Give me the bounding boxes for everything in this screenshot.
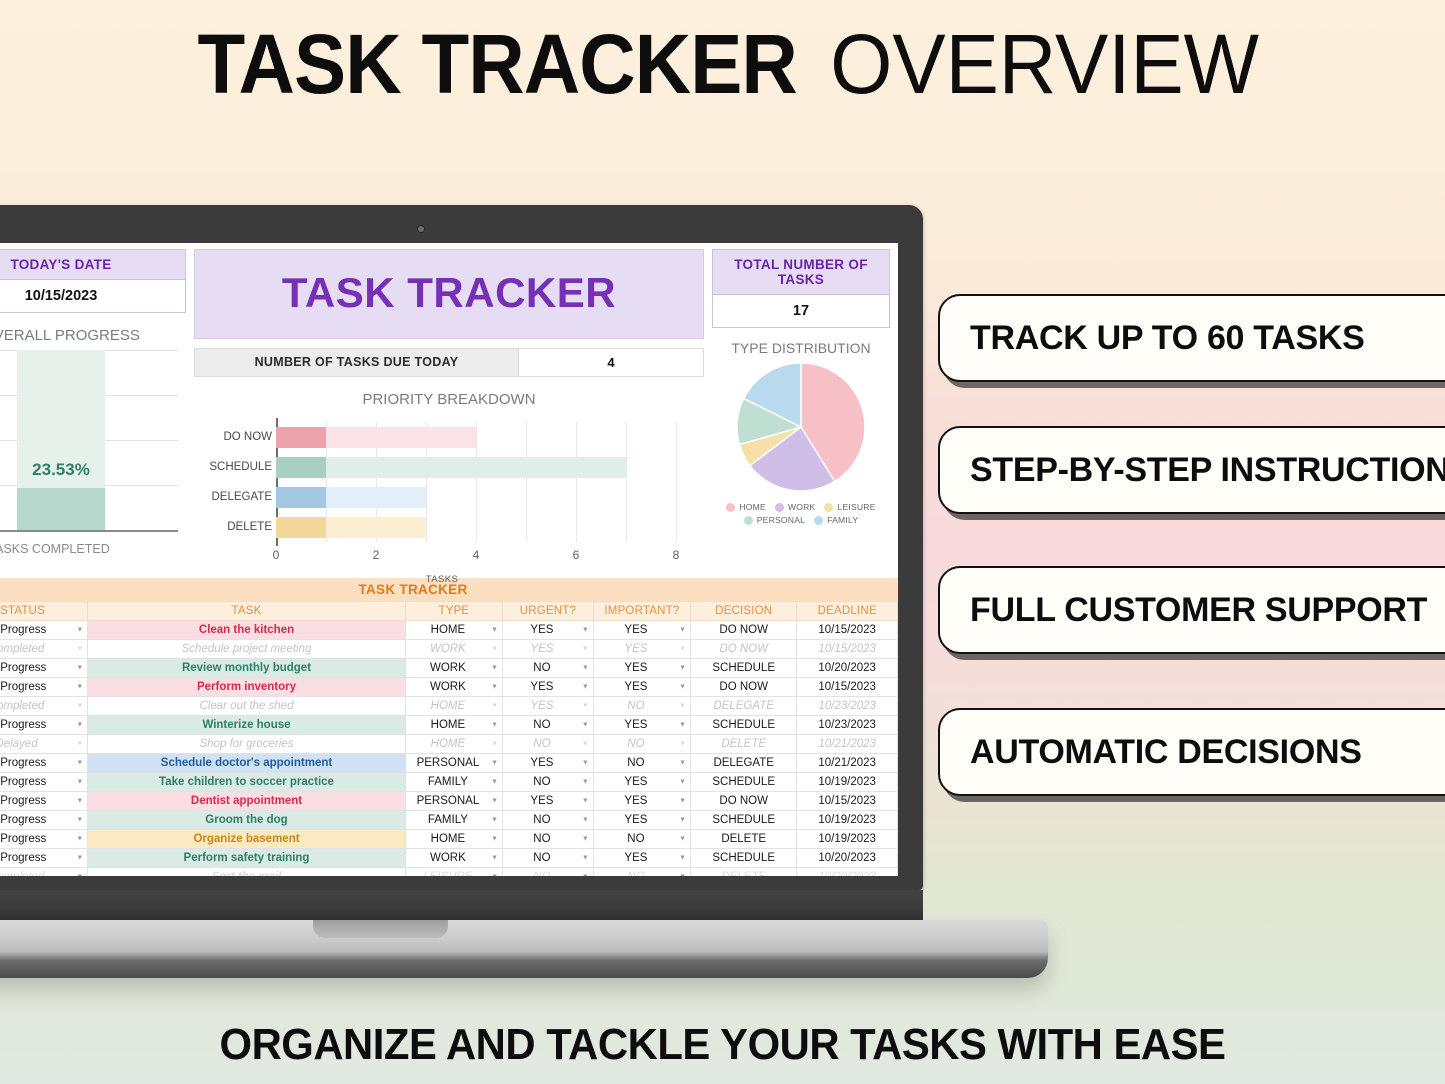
task-table-head: #STATUSTASKTYPEURGENT?IMPORTANT?DECISION…	[0, 602, 898, 621]
urgent-dropdown[interactable]: NO▼	[503, 716, 594, 735]
task-table-wrap: TASK TRACKER #STATUSTASKTYPEURGENT?IMPOR…	[0, 578, 898, 876]
type-dropdown[interactable]: LEISURE▼	[405, 868, 502, 877]
task-name-cell: Sort the mail	[88, 868, 405, 877]
task-name-cell: Groom the dog	[88, 811, 405, 830]
feature-pill-3: FULL CUSTOMER SUPPORT	[938, 566, 1445, 654]
bar-plot-area: DO NOWSCHEDULEDELEGATEDELETE02468	[276, 422, 676, 542]
dashboard-top: TODAY'S DATE 10/15/2023 OVERALL PROGRESS…	[0, 243, 898, 568]
type-dropdown[interactable]: FAMILY▼	[405, 773, 502, 792]
bar-gridline	[526, 422, 527, 542]
chevron-down-icon[interactable]: ▼	[491, 760, 498, 767]
status-dropdown[interactable]: In-Progress▼	[0, 716, 88, 735]
pie-legend-item: WORK	[775, 502, 816, 512]
bar-category-label: DELETE	[196, 521, 272, 533]
urgent-dropdown[interactable]: NO▼	[503, 868, 594, 877]
chevron-down-icon[interactable]: ▼	[76, 798, 83, 805]
task-name-cell: Dentist appointment	[88, 792, 405, 811]
chevron-down-icon[interactable]: ▼	[582, 836, 589, 843]
deadline-cell: 10/20/2023	[797, 868, 898, 877]
chevron-down-icon[interactable]: ▼	[491, 836, 498, 843]
status-dropdown[interactable]: In-Progress▼	[0, 792, 88, 811]
overall-progress-chart: 100%75%50%25%0% 23.53%	[0, 350, 180, 530]
urgent-dropdown[interactable]: NO▼	[503, 811, 594, 830]
table-row[interactable]: 3In-Progress▼Review monthly budgetWORK▼N…	[0, 659, 898, 678]
task-table-col-decision[interactable]: DECISION	[691, 602, 797, 621]
task-table-col-task[interactable]: TASK	[88, 602, 405, 621]
legend-swatch-icon	[775, 503, 784, 512]
bar-segment-light	[326, 517, 426, 538]
chevron-down-icon[interactable]: ▼	[582, 741, 589, 748]
chevron-down-icon[interactable]: ▼	[76, 722, 83, 729]
chevron-down-icon[interactable]: ▼	[76, 760, 83, 767]
deadline-cell: 10/20/2023	[797, 849, 898, 868]
chevron-down-icon[interactable]: ▼	[582, 760, 589, 767]
left-panel: TODAY'S DATE 10/15/2023 OVERALL PROGRESS…	[0, 249, 186, 556]
status-dropdown[interactable]: In-Progress▼	[0, 849, 88, 868]
progress-gridline	[0, 530, 178, 532]
important-dropdown[interactable]: NO▼	[593, 830, 690, 849]
table-row[interactable]: 12In-Progress▼Organize basementHOME▼NO▼N…	[0, 830, 898, 849]
pie-legend-label: LEISURE	[837, 502, 875, 512]
total-tasks-value: 17	[712, 295, 890, 328]
task-table-col-status[interactable]: STATUS	[0, 602, 88, 621]
important-dropdown[interactable]: NO▼	[593, 697, 690, 716]
pie-legend-label: WORK	[788, 502, 816, 512]
urgent-dropdown[interactable]: YES▼	[503, 678, 594, 697]
chevron-down-icon[interactable]: ▼	[679, 722, 686, 729]
chevron-down-icon[interactable]: ▼	[76, 855, 83, 862]
decision-cell: DELETE	[691, 830, 797, 849]
task-table: #STATUSTASKTYPEURGENT?IMPORTANT?DECISION…	[0, 601, 898, 876]
urgent-dropdown[interactable]: NO▼	[503, 659, 594, 678]
deadline-cell: 10/19/2023	[797, 830, 898, 849]
table-row[interactable]: 5Completed▼Clear out the shedHOME▼YES▼NO…	[0, 697, 898, 716]
type-dropdown[interactable]: PERSONAL▼	[405, 792, 502, 811]
chevron-down-icon[interactable]: ▼	[582, 779, 589, 786]
important-dropdown[interactable]: YES▼	[593, 716, 690, 735]
page-title: TASK TRACKER OVERVIEW	[0, 22, 1445, 106]
chevron-down-icon[interactable]: ▼	[76, 836, 83, 843]
chevron-down-icon[interactable]: ▼	[76, 646, 83, 653]
chevron-down-icon[interactable]: ▼	[76, 741, 83, 748]
footer-tagline: ORGANIZE AND TACKLE YOUR TASKS WITH EASE	[36, 1020, 1409, 1070]
task-name-cell: Perform safety training	[88, 849, 405, 868]
status-dropdown[interactable]: Completed▼	[0, 697, 88, 716]
chevron-down-icon[interactable]: ▼	[76, 779, 83, 786]
decision-cell: SCHEDULE	[691, 659, 797, 678]
status-dropdown[interactable]: In-Progress▼	[0, 678, 88, 697]
pie-legend-label: PERSONAL	[757, 515, 805, 525]
urgent-dropdown[interactable]: YES▼	[503, 621, 594, 640]
table-row[interactable]: 2Completed▼Schedule project meetingWORK▼…	[0, 640, 898, 659]
decision-cell: DO NOW	[691, 792, 797, 811]
bar-gridline	[626, 422, 627, 542]
chevron-down-icon[interactable]: ▼	[491, 703, 498, 710]
type-dropdown[interactable]: HOME▼	[405, 697, 502, 716]
deadline-cell: 10/23/2023	[797, 716, 898, 735]
chevron-down-icon[interactable]: ▼	[582, 874, 589, 876]
status-dropdown[interactable]: In-Progress▼	[0, 659, 88, 678]
chevron-down-icon[interactable]: ▼	[582, 817, 589, 824]
chevron-down-icon[interactable]: ▼	[679, 874, 686, 876]
chevron-down-icon[interactable]: ▼	[582, 798, 589, 805]
task-table-header-row: #STATUSTASKTYPEURGENT?IMPORTANT?DECISION…	[0, 602, 898, 621]
table-row[interactable]: 7Delayed▼Shop for groceriesHOME▼NO▼NO▼DE…	[0, 735, 898, 754]
chevron-down-icon[interactable]: ▼	[679, 665, 686, 672]
table-row[interactable]: 9In-Progress▼Take children to soccer pra…	[0, 773, 898, 792]
feature-pill-2: STEP-BY-STEP INSTRUCTIONS	[938, 426, 1445, 514]
pie-legend: HOMEWORKLEISUREPERSONALFAMILY	[712, 495, 890, 525]
todays-date-label: TODAY'S DATE	[0, 249, 186, 280]
type-dropdown[interactable]: FAMILY▼	[405, 811, 502, 830]
important-dropdown[interactable]: YES▼	[593, 849, 690, 868]
important-dropdown[interactable]: YES▼	[593, 640, 690, 659]
type-dropdown[interactable]: HOME▼	[405, 735, 502, 754]
total-tasks-label: TOTAL NUMBER OF TASKS	[712, 249, 890, 295]
chevron-down-icon[interactable]: ▼	[76, 817, 83, 824]
deadline-cell: 10/21/2023	[797, 735, 898, 754]
deadline-cell: 10/15/2023	[797, 792, 898, 811]
decision-cell: DELETE	[691, 868, 797, 877]
chevron-down-icon[interactable]: ▼	[582, 627, 589, 634]
chevron-down-icon[interactable]: ▼	[679, 817, 686, 824]
important-dropdown[interactable]: YES▼	[593, 621, 690, 640]
urgent-dropdown[interactable]: YES▼	[503, 697, 594, 716]
bar-xaxis-title: TASKS	[426, 574, 458, 585]
deadline-cell: 10/15/2023	[797, 621, 898, 640]
status-dropdown[interactable]: Completed▼	[0, 868, 88, 877]
task-name-cell: Shop for groceries	[88, 735, 405, 754]
decision-cell: SCHEDULE	[691, 811, 797, 830]
table-row[interactable]: 4In-Progress▼Perform inventoryWORK▼YES▼Y…	[0, 678, 898, 697]
feature-pill-1: TRACK UP TO 60 TASKS	[938, 294, 1445, 382]
bar-gridline	[476, 422, 477, 542]
legend-swatch-icon	[726, 503, 735, 512]
important-dropdown[interactable]: YES▼	[593, 773, 690, 792]
bar-xtick: 8	[673, 548, 680, 562]
bar-category-label: SCHEDULE	[196, 461, 272, 473]
progress-caption: 4 OF 17 TASKS COMPLETED	[0, 530, 186, 556]
task-name-cell: Review monthly budget	[88, 659, 405, 678]
priority-breakdown-chart: DO NOWSCHEDULEDELEGATEDELETE02468 TASKS	[194, 418, 690, 568]
type-dropdown[interactable]: PERSONAL▼	[405, 754, 502, 773]
bar-xtick: 6	[573, 548, 580, 562]
chevron-down-icon[interactable]: ▼	[76, 627, 83, 634]
due-today-value[interactable]: 4	[518, 349, 703, 376]
bar-category-label: DO NOW	[196, 431, 272, 443]
laptop-base	[0, 920, 1048, 978]
task-name-cell: Take children to soccer practice	[88, 773, 405, 792]
bar-category-label: DELEGATE	[196, 491, 272, 503]
type-dropdown[interactable]: WORK▼	[405, 849, 502, 868]
chevron-down-icon[interactable]: ▼	[491, 855, 498, 862]
chevron-down-icon[interactable]: ▼	[582, 646, 589, 653]
right-panel: TOTAL NUMBER OF TASKS 17 TYPE DISTRIBUTI…	[712, 249, 890, 525]
chevron-down-icon[interactable]: ▼	[582, 684, 589, 691]
center-panel: TASK TRACKER NUMBER OF TASKS DUE TODAY 4…	[194, 249, 704, 568]
due-today-row: NUMBER OF TASKS DUE TODAY 4	[194, 348, 704, 377]
legend-swatch-icon	[824, 503, 833, 512]
status-dropdown[interactable]: In-Progress▼	[0, 621, 88, 640]
page-title-light: OVERVIEW	[830, 22, 1259, 106]
bar-xtick: 4	[473, 548, 480, 562]
task-name-cell: Schedule doctor's appointment	[88, 754, 405, 773]
chevron-down-icon[interactable]: ▼	[679, 836, 686, 843]
task-table-col-important[interactable]: IMPORTANT?	[593, 602, 690, 621]
decision-cell: DO NOW	[691, 621, 797, 640]
important-dropdown[interactable]: YES▼	[593, 659, 690, 678]
laptop-screen: TODAY'S DATE 10/15/2023 OVERALL PROGRESS…	[0, 243, 898, 876]
decision-cell: DELEGATE	[691, 754, 797, 773]
chevron-down-icon[interactable]: ▼	[679, 741, 686, 748]
deadline-cell: 10/15/2023	[797, 640, 898, 659]
bar-series-item	[276, 487, 426, 508]
urgent-dropdown[interactable]: NO▼	[503, 830, 594, 849]
chevron-down-icon[interactable]: ▼	[582, 665, 589, 672]
status-dropdown[interactable]: In-Progress▼	[0, 811, 88, 830]
task-table-body: 1In-Progress▼Clean the kitchenHOME▼YES▼Y…	[0, 621, 898, 877]
chevron-down-icon[interactable]: ▼	[679, 703, 686, 710]
urgent-dropdown[interactable]: NO▼	[503, 849, 594, 868]
bar-segment-dark	[276, 517, 326, 538]
decision-cell: SCHEDULE	[691, 773, 797, 792]
laptop-mockup: TODAY'S DATE 10/15/2023 OVERALL PROGRESS…	[0, 205, 923, 890]
pie-legend-item: LEISURE	[824, 502, 875, 512]
chevron-down-icon[interactable]: ▼	[679, 760, 686, 767]
task-name-cell: Clear out the shed	[88, 697, 405, 716]
pie-legend-item: FAMILY	[814, 515, 858, 525]
bar-series-item	[276, 517, 426, 538]
overall-progress-title: OVERALL PROGRESS	[0, 313, 186, 350]
bar-series-item	[276, 457, 626, 478]
chevron-down-icon[interactable]: ▼	[582, 855, 589, 862]
important-dropdown[interactable]: NO▼	[593, 735, 690, 754]
important-dropdown[interactable]: NO▼	[593, 754, 690, 773]
important-dropdown[interactable]: YES▼	[593, 678, 690, 697]
table-row[interactable]: 1In-Progress▼Clean the kitchenHOME▼YES▼Y…	[0, 621, 898, 640]
priority-breakdown-title: PRIORITY BREAKDOWN	[194, 377, 704, 414]
type-dropdown[interactable]: WORK▼	[405, 678, 502, 697]
chevron-down-icon[interactable]: ▼	[491, 665, 498, 672]
webcam-icon	[417, 225, 425, 233]
deadline-cell: 10/15/2023	[797, 678, 898, 697]
table-row[interactable]: 13In-Progress▼Perform safety trainingWOR…	[0, 849, 898, 868]
chevron-down-icon[interactable]: ▼	[491, 817, 498, 824]
chevron-down-icon[interactable]: ▼	[76, 684, 83, 691]
urgent-dropdown[interactable]: NO▼	[503, 735, 594, 754]
type-dropdown[interactable]: HOME▼	[405, 621, 502, 640]
type-distribution-title: TYPE DISTRIBUTION	[712, 328, 890, 360]
chevron-down-icon[interactable]: ▼	[491, 741, 498, 748]
urgent-dropdown[interactable]: YES▼	[503, 792, 594, 811]
deadline-cell: 10/19/2023	[797, 773, 898, 792]
pie-legend-item: PERSONAL	[744, 515, 805, 525]
bar-series-item	[276, 427, 476, 448]
deadline-cell: 10/20/2023	[797, 659, 898, 678]
chevron-down-icon[interactable]: ▼	[582, 703, 589, 710]
decision-cell: DO NOW	[691, 678, 797, 697]
deadline-cell: 10/21/2023	[797, 754, 898, 773]
chevron-down-icon[interactable]: ▼	[76, 874, 83, 876]
type-dropdown[interactable]: HOME▼	[405, 830, 502, 849]
progress-value-label: 23.53%	[32, 460, 90, 480]
page-title-bold: TASK TRACKER	[197, 22, 796, 106]
table-row[interactable]: 6In-Progress▼Winterize houseHOME▼NO▼YES▼…	[0, 716, 898, 735]
decision-cell: DELEGATE	[691, 697, 797, 716]
type-dropdown[interactable]: WORK▼	[405, 659, 502, 678]
chevron-down-icon[interactable]: ▼	[491, 684, 498, 691]
todays-date-value[interactable]: 10/15/2023	[0, 280, 186, 313]
laptop-hinge	[0, 890, 923, 923]
task-table-col-urgent[interactable]: URGENT?	[503, 602, 594, 621]
chevron-down-icon[interactable]: ▼	[76, 703, 83, 710]
task-name-cell: Perform inventory	[88, 678, 405, 697]
task-table-col-type[interactable]: TYPE	[405, 602, 502, 621]
chevron-down-icon[interactable]: ▼	[491, 779, 498, 786]
chevron-down-icon[interactable]: ▼	[679, 627, 686, 634]
urgent-dropdown[interactable]: NO▼	[503, 773, 594, 792]
laptop-lid: TODAY'S DATE 10/15/2023 OVERALL PROGRESS…	[0, 205, 923, 890]
status-dropdown[interactable]: In-Progress▼	[0, 773, 88, 792]
table-row[interactable]: 10In-Progress▼Dentist appointmentPERSONA…	[0, 792, 898, 811]
chevron-down-icon[interactable]: ▼	[582, 722, 589, 729]
task-table-col-deadline[interactable]: DEADLINE	[797, 602, 898, 621]
chevron-down-icon[interactable]: ▼	[491, 646, 498, 653]
feature-pill-4: AUTOMATIC DECISIONS	[938, 708, 1445, 796]
task-name-cell: Schedule project meeting	[88, 640, 405, 659]
task-name-cell: Organize basement	[88, 830, 405, 849]
urgent-dropdown[interactable]: YES▼	[503, 754, 594, 773]
chevron-down-icon[interactable]: ▼	[679, 855, 686, 862]
bar-segment-light	[326, 457, 626, 478]
pie-legend-label: FAMILY	[827, 515, 858, 525]
chevron-down-icon[interactable]: ▼	[491, 627, 498, 634]
pie-chart-svg	[716, 360, 886, 495]
pie-legend-item: HOME	[726, 502, 766, 512]
chevron-down-icon[interactable]: ▼	[76, 665, 83, 672]
pie-legend-label: HOME	[739, 502, 766, 512]
table-row[interactable]: 11In-Progress▼Groom the dogFAMILY▼NO▼YES…	[0, 811, 898, 830]
important-dropdown[interactable]: YES▼	[593, 792, 690, 811]
bar-segment-light	[326, 487, 426, 508]
task-name-cell: Winterize house	[88, 716, 405, 735]
sheet-banner-title: TASK TRACKER	[194, 249, 704, 339]
status-dropdown[interactable]: In-Progress▼	[0, 754, 88, 773]
spreadsheet: TODAY'S DATE 10/15/2023 OVERALL PROGRESS…	[0, 243, 898, 876]
progress-fill	[17, 488, 105, 530]
chevron-down-icon[interactable]: ▼	[679, 684, 686, 691]
bar-segment-dark	[276, 457, 326, 478]
type-dropdown[interactable]: WORK▼	[405, 640, 502, 659]
bar-segment-dark	[276, 487, 326, 508]
decision-cell: SCHEDULE	[691, 716, 797, 735]
important-dropdown[interactable]: YES▼	[593, 811, 690, 830]
status-dropdown[interactable]: Completed▼	[0, 640, 88, 659]
bar-xtick: 0	[273, 548, 280, 562]
status-dropdown[interactable]: Delayed▼	[0, 735, 88, 754]
pie-chart	[712, 360, 890, 495]
decision-cell: DO NOW	[691, 640, 797, 659]
due-today-label: NUMBER OF TASKS DUE TODAY	[195, 349, 518, 376]
bar-gridline	[676, 422, 677, 542]
legend-swatch-icon	[744, 516, 753, 525]
urgent-dropdown[interactable]: YES▼	[503, 640, 594, 659]
chevron-down-icon[interactable]: ▼	[491, 798, 498, 805]
status-dropdown[interactable]: In-Progress▼	[0, 830, 88, 849]
table-row[interactable]: 14Completed▼Sort the mailLEISURE▼NO▼NO▼D…	[0, 868, 898, 877]
deadline-cell: 10/19/2023	[797, 811, 898, 830]
type-dropdown[interactable]: HOME▼	[405, 716, 502, 735]
chevron-down-icon[interactable]: ▼	[679, 646, 686, 653]
important-dropdown[interactable]: NO▼	[593, 868, 690, 877]
chevron-down-icon[interactable]: ▼	[491, 874, 498, 876]
chevron-down-icon[interactable]: ▼	[679, 779, 686, 786]
chevron-down-icon[interactable]: ▼	[679, 798, 686, 805]
decision-cell: DELETE	[691, 735, 797, 754]
task-name-cell: Clean the kitchen	[88, 621, 405, 640]
decision-cell: SCHEDULE	[691, 849, 797, 868]
deadline-cell: 10/23/2023	[797, 697, 898, 716]
bar-segment-dark	[276, 427, 326, 448]
bar-xtick: 2	[373, 548, 380, 562]
laptop-base-notch	[313, 920, 448, 938]
bar-gridline	[576, 422, 577, 542]
chevron-down-icon[interactable]: ▼	[491, 722, 498, 729]
legend-swatch-icon	[814, 516, 823, 525]
bar-segment-light	[326, 427, 476, 448]
table-row[interactable]: 8In-Progress▼Schedule doctor's appointme…	[0, 754, 898, 773]
